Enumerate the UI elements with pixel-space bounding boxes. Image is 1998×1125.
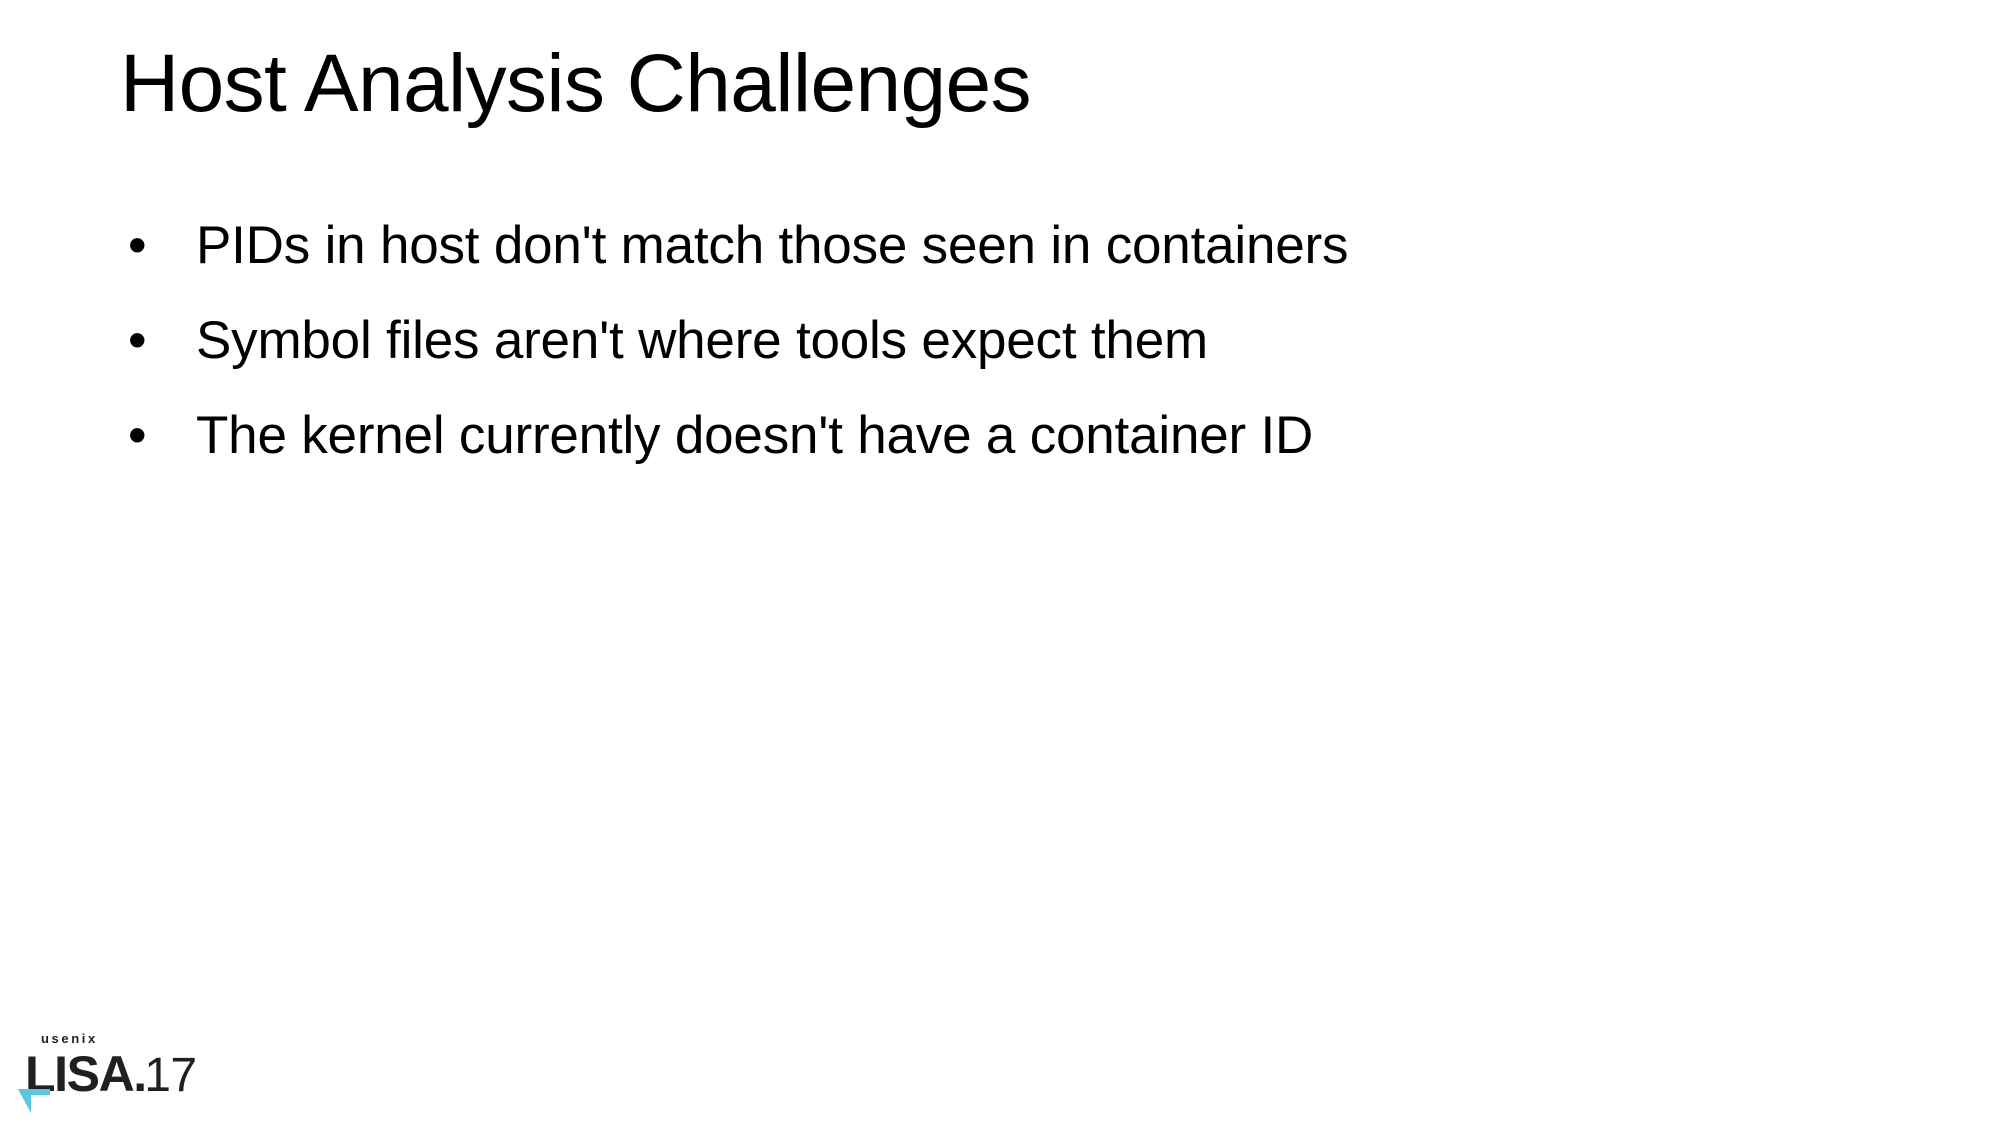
lisa-separator: . — [133, 1046, 144, 1102]
usenix-label: usenix — [41, 1032, 98, 1045]
lisa-wordmark: LISA.17 — [25, 1049, 197, 1100]
arrow-down-left-icon — [18, 1085, 50, 1113]
lisa-year: 17 — [144, 1049, 196, 1102]
page-title: Host Analysis Challenges — [120, 38, 1860, 130]
list-item: • PIDs in host don't match those seen in… — [120, 213, 1900, 278]
bullet-dot-icon: • — [128, 403, 158, 468]
list-item-label: Symbol files aren't where tools expect t… — [196, 311, 1208, 370]
list-item-label: PIDs in host don't match those seen in c… — [196, 216, 1348, 275]
bullet-list: • PIDs in host don't match those seen in… — [120, 213, 1900, 469]
lisa17-logo: usenix LISA.17 — [15, 1032, 245, 1120]
bullet-dot-icon: • — [128, 213, 158, 278]
list-item: • The kernel currently doesn't have a co… — [120, 403, 1900, 468]
list-item: • Symbol files aren't where tools expect… — [120, 308, 1900, 373]
slide-canvas: Host Analysis Challenges • PIDs in host … — [0, 0, 1998, 1125]
list-item-label: The kernel currently doesn't have a cont… — [196, 406, 1313, 465]
bullet-dot-icon: • — [128, 308, 158, 373]
